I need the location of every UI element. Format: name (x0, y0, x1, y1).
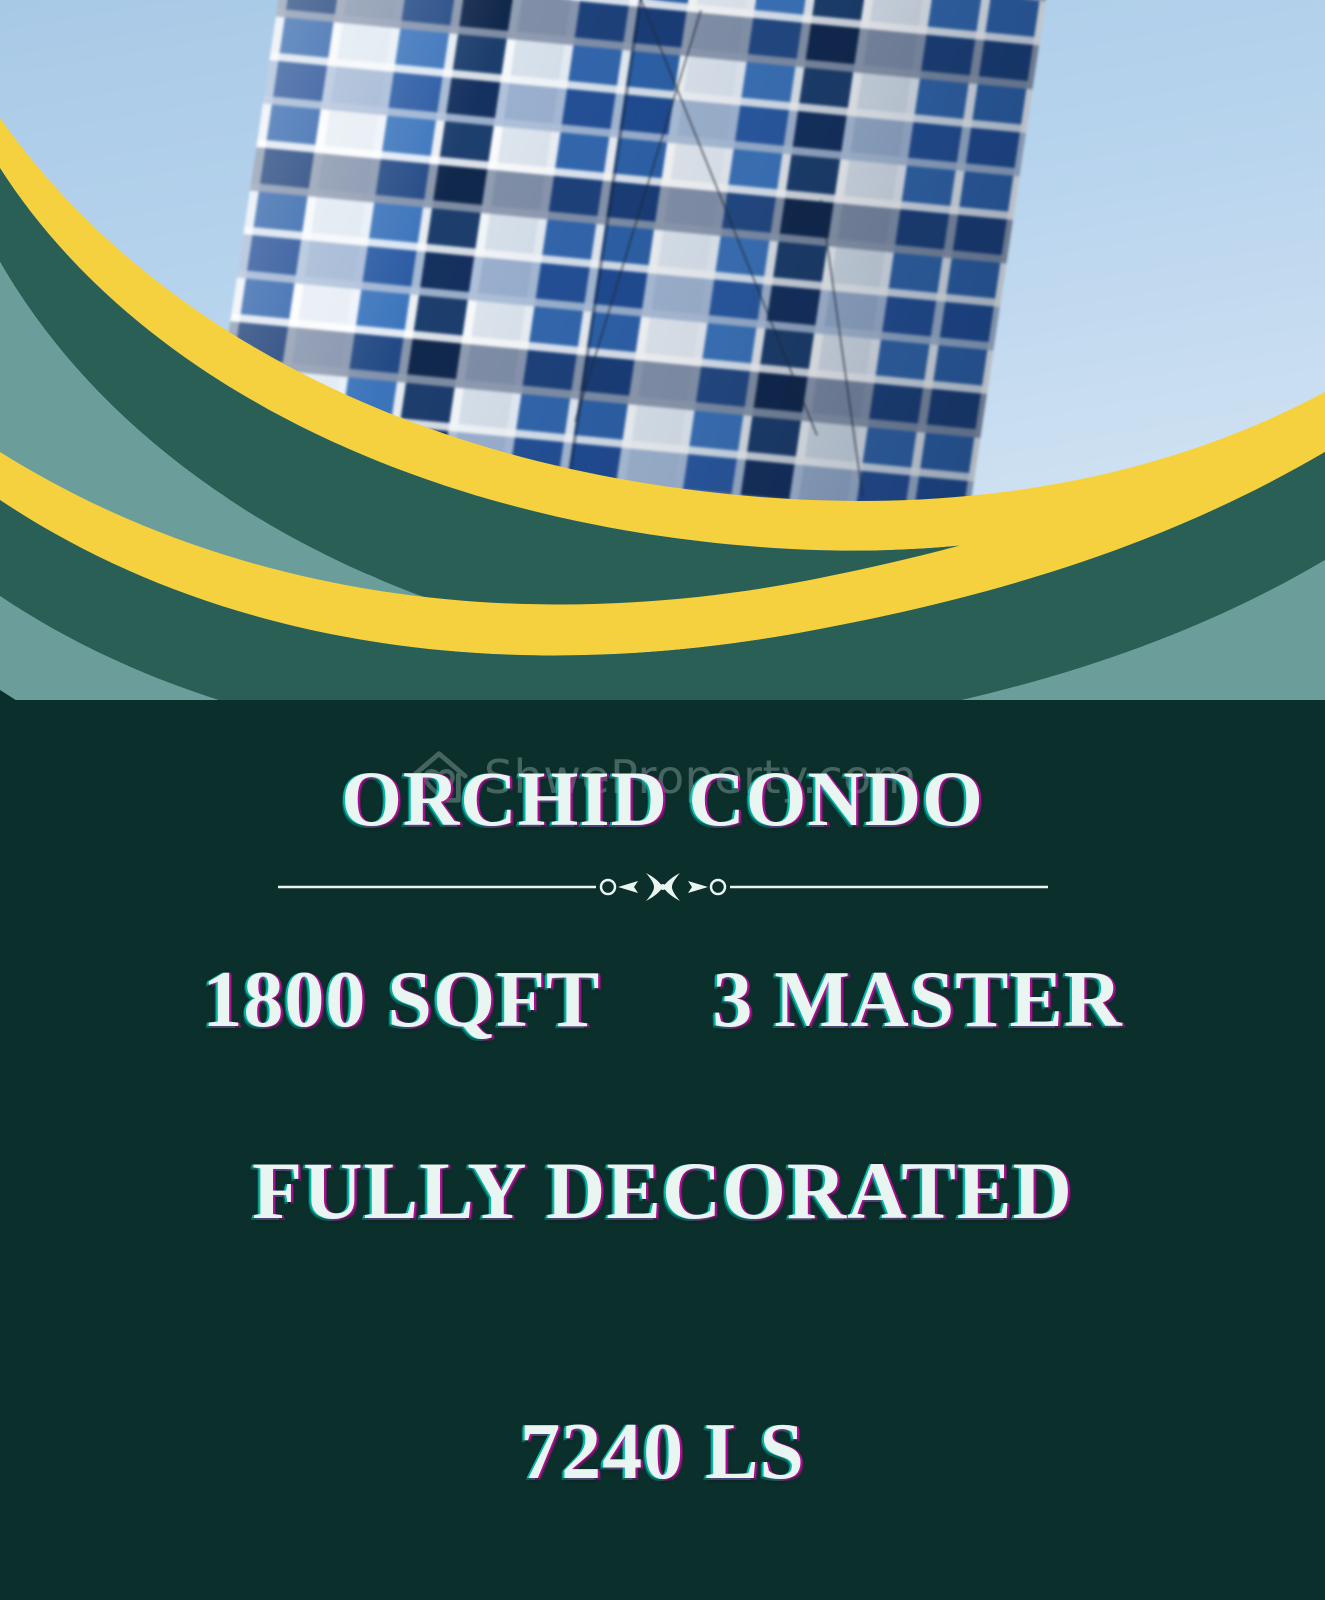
feature-row: 1800 SQFT 3 MASTER (0, 960, 1325, 1040)
price-row: 7240 LS (0, 1412, 1325, 1492)
price-value: 7240 LS (0, 1412, 1325, 1492)
feature-condition: FULLY DECORATED (0, 1150, 1325, 1232)
feature-bedrooms: 3 MASTER (712, 960, 1122, 1040)
page-title: ORCHID CONDO (0, 700, 1325, 840)
divider-ornament (278, 870, 1048, 904)
listing-content: ORCHID CONDO 1800 SQFT 3 MASTER FULLY DE… (0, 700, 1325, 1492)
condo-tower-image (172, 0, 1062, 760)
condition-row: FULLY DECORATED (0, 1150, 1325, 1232)
hero-photo (0, 0, 1325, 760)
tower-shading (172, 0, 1062, 760)
feature-area: 1800 SQFT (202, 960, 600, 1040)
property-listing-poster: ShweProperty.com ORCHID CONDO 1800 SQFT … (0, 0, 1325, 1600)
